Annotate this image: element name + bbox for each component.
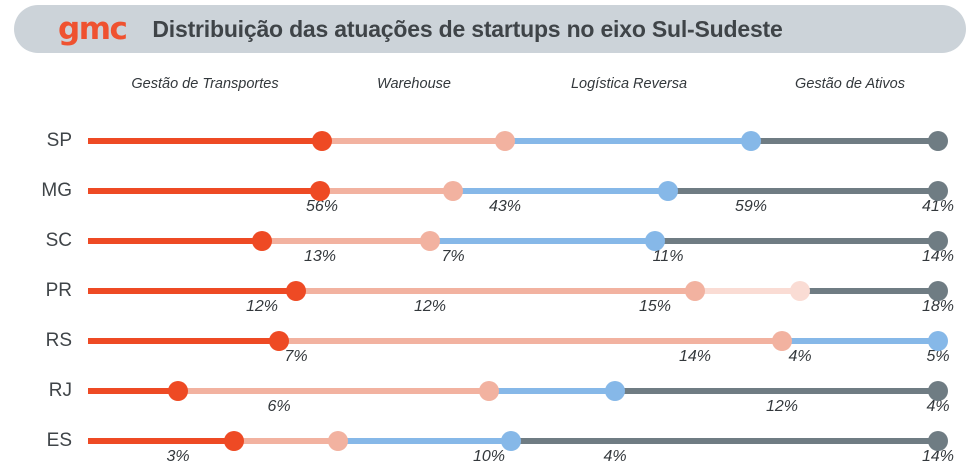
segment-pr-4[interactable] [800,288,938,294]
chart-row: SC12%12%15%18% [0,195,980,245]
segment-rs-2[interactable] [279,338,782,344]
row-track: 13%7%11%14% [88,188,952,194]
segment-es-3[interactable] [338,438,511,444]
chart-row: RJ3%10%4%14% [0,345,980,395]
segment-pr-1[interactable] [88,288,296,294]
segment-rs-1[interactable] [88,338,279,344]
segment-es-1[interactable] [88,438,234,444]
data-point-es-4[interactable] [928,431,948,451]
chart-row: PR7%14%4%5% [0,245,980,295]
segment-sp-4[interactable] [751,138,938,144]
segment-sp-3[interactable] [505,138,751,144]
segment-sp-1[interactable] [88,138,322,144]
segment-es-4[interactable] [511,438,938,444]
segment-rj-1[interactable] [88,388,178,394]
data-point-es-1[interactable] [224,431,244,451]
value-label-rj-2: 10% [473,448,505,466]
value-label-rj-3: 4% [603,448,626,466]
segment-rj-4[interactable] [615,388,938,394]
row-track: 56%43%59%41% [88,138,952,144]
row-track: 3%2%4%9% [88,438,952,444]
row-track: 3%10%4%14% [88,388,952,394]
chart-header-bar: gmc Distribuição das atuações de startup… [14,5,966,53]
data-point-es-3[interactable] [501,431,521,451]
segment-mg-4[interactable] [668,188,938,194]
segment-pr-2[interactable] [296,288,695,294]
segment-sc-3[interactable] [430,238,655,244]
segment-pr-3[interactable] [695,288,800,294]
series-header-2: Warehouse [377,76,451,92]
row-track: 12%12%15%18% [88,238,952,244]
segment-mg-3[interactable] [453,188,668,194]
page-title: Distribuição das atuações de startups no… [152,16,782,43]
column-header-row: Gestão de TransportesWarehouseLogística … [0,76,980,96]
row-label-es: ES [0,430,72,452]
segment-rs-3[interactable] [782,338,938,344]
segment-mg-1[interactable] [88,188,320,194]
series-header-3: Logística Reversa [571,76,687,92]
series-header-1: Gestão de Transportes [131,76,278,92]
segment-sc-4[interactable] [655,238,938,244]
data-point-es-2[interactable] [328,431,348,451]
plot-area: Gestão de TransportesWarehouseLogística … [0,60,980,468]
value-label-rj-1: 3% [166,448,189,466]
chart-row: SP56%43%59%41% [0,95,980,145]
chart-row: RS6%12%4% [0,295,980,345]
chart-row: ES3%2%4%9% [0,395,980,445]
gmc-logo: gmc [58,14,126,45]
segment-rj-3[interactable] [489,388,615,394]
segment-es-2[interactable] [234,438,338,444]
segment-sc-1[interactable] [88,238,262,244]
segment-sp-2[interactable] [322,138,505,144]
segment-sc-2[interactable] [262,238,430,244]
segment-mg-2[interactable] [320,188,453,194]
series-header-4: Gestão de Ativos [795,76,905,92]
row-track: 6%12%4% [88,338,952,344]
chart-root: gmc Distribuição das atuações de startup… [0,0,980,468]
chart-row: MG13%7%11%14% [0,145,980,195]
row-track: 7%14%4%5% [88,288,952,294]
segment-rj-2[interactable] [178,388,489,394]
